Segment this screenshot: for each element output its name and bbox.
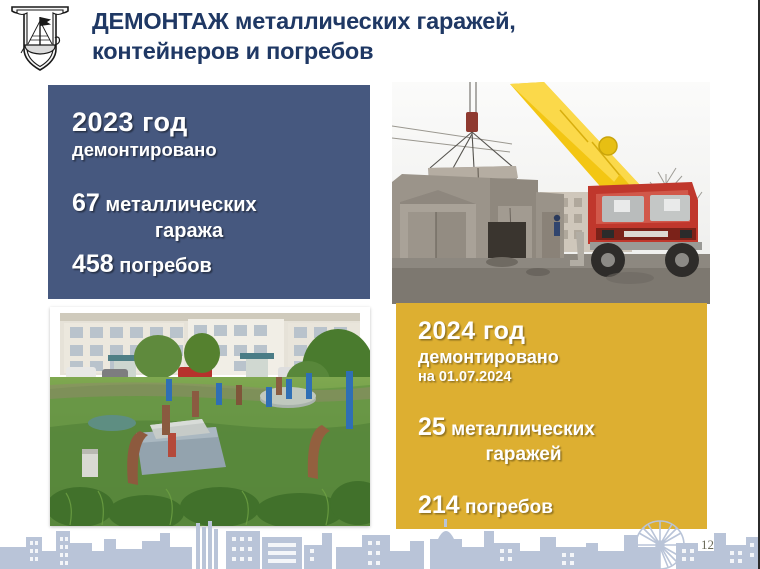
stats-2024-garages-count: 25 bbox=[418, 413, 446, 441]
page-title-line-1: ДЕМОНТАЖ металлических гаражей, bbox=[92, 6, 692, 36]
slide-canvas: ДЕМОНТАЖ металлических гаражей, контейне… bbox=[0, 0, 760, 569]
stats-2023-cellars-count: 458 bbox=[72, 250, 114, 278]
stats-2023-garages-row: 67 металлических bbox=[72, 190, 352, 218]
page-number: 12 bbox=[701, 537, 714, 553]
photo-cellars-in-courtyard bbox=[50, 307, 370, 526]
stats-2024-as-of-date: на 01.07.2024 bbox=[418, 368, 693, 387]
stats-2023-garages-count: 67 bbox=[72, 189, 100, 217]
stats-2023-garages-label-2: гаража bbox=[155, 220, 223, 242]
stats-2024-garages-label-1: металлических bbox=[451, 419, 595, 440]
stats-panel-2024: 2024 год демонтировано на 01.07.2024 25 … bbox=[396, 303, 707, 529]
page-title-line-2: контейнеров и погребов bbox=[92, 36, 692, 66]
stats-2024-cellars-count: 214 bbox=[418, 491, 460, 519]
page-title: ДЕМОНТАЖ металлических гаражей, контейне… bbox=[92, 6, 692, 66]
stats-2024-cellars-label: погребов bbox=[465, 497, 553, 518]
stats-2023-cellars-label: погребов bbox=[119, 255, 212, 277]
stats-2023-garages-label-2-row: гаража bbox=[72, 218, 352, 244]
footer-city-skyline bbox=[0, 517, 760, 569]
stats-2024-garages-label-2-row: гаражей bbox=[418, 442, 693, 468]
stats-2023-garages-label-1: металлических bbox=[105, 194, 256, 216]
stats-2023-year: 2023 год bbox=[72, 107, 352, 137]
stats-2024-subtitle: демонтировано bbox=[418, 346, 693, 368]
stats-2024-garages-row: 25 металлических bbox=[418, 415, 693, 442]
photo-crane-lifting-metal-garage bbox=[392, 82, 710, 304]
stats-2023-cellars-row: 458 погребов bbox=[72, 250, 352, 280]
slide-header: ДЕМОНТАЖ металлических гаражей, контейне… bbox=[0, 0, 760, 78]
stats-2023-subtitle: демонтировано bbox=[72, 138, 352, 162]
stats-panel-2023: 2023 год демонтировано 67 металлических … bbox=[48, 85, 370, 299]
stats-2024-year: 2024 год bbox=[418, 317, 693, 346]
stats-2024-garages-label-2: гаражей bbox=[485, 444, 561, 465]
coat-of-arms-ship-shield-icon bbox=[6, 3, 74, 73]
